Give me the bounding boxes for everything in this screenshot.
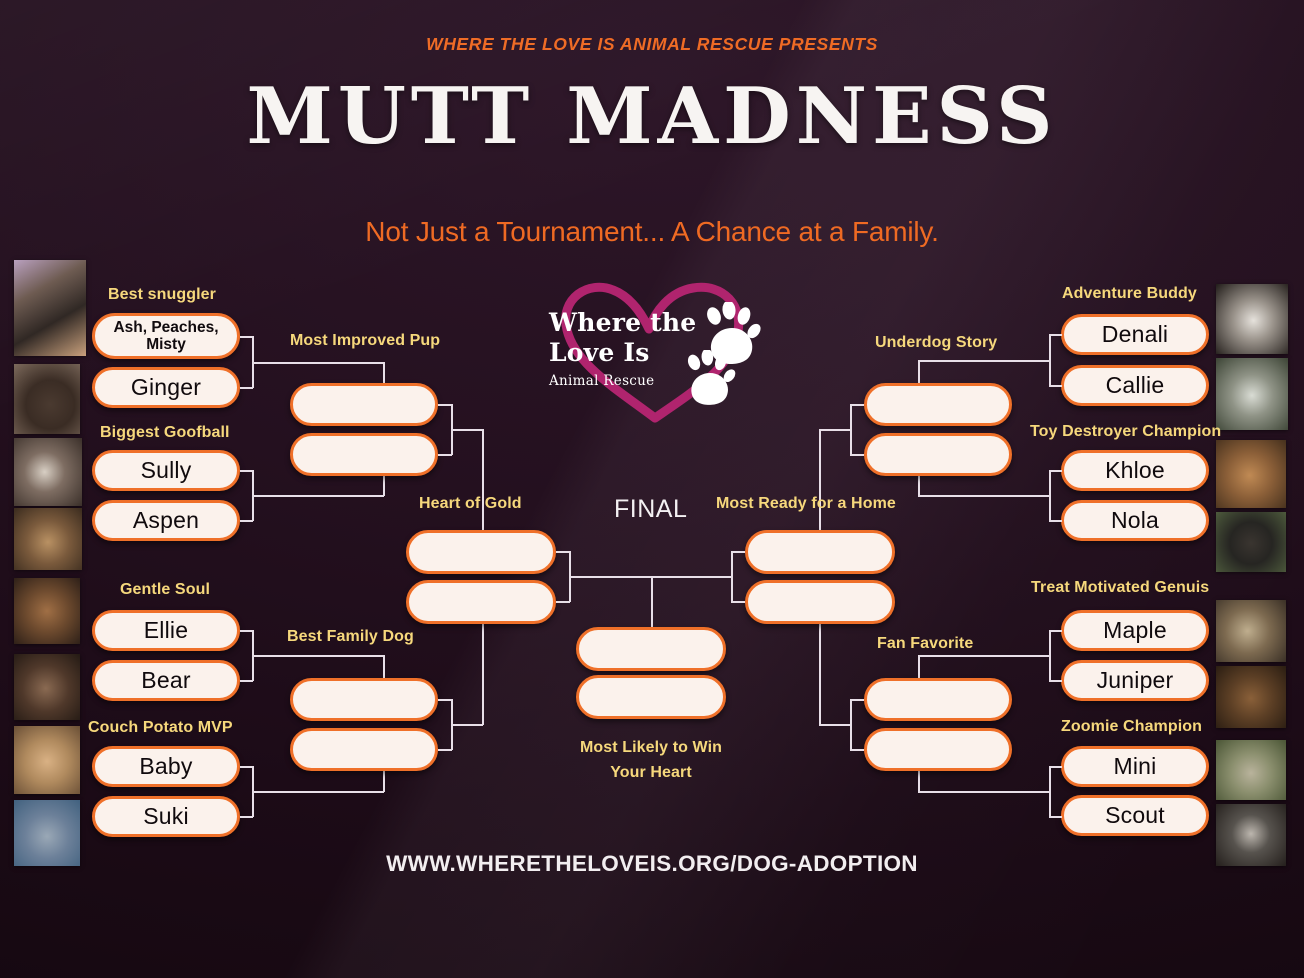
- dog-photo-right-6: [1216, 666, 1286, 728]
- right-r1-slot-4[interactable]: Nola: [1061, 500, 1209, 541]
- category-label-adventure-buddy: Adventure Buddy: [1062, 285, 1197, 303]
- connector-left-d-in-bot: [240, 816, 253, 818]
- connector-left-b-in-bot: [240, 520, 253, 522]
- connector-right-r3-top: [731, 551, 745, 553]
- right-r1-slot-6[interactable]: Juniper: [1061, 660, 1209, 701]
- right-r3-slot-1[interactable]: [745, 530, 895, 574]
- dog-photo-right-1: [1216, 284, 1288, 354]
- connector-right-b-out: [918, 495, 1050, 497]
- connector-left-r2b-out: [451, 724, 483, 726]
- connector-left-b-in-top: [240, 470, 253, 472]
- category-label-best-family-dog: Best Family Dog: [287, 628, 414, 646]
- right-r1-slot-8[interactable]: Scout: [1061, 795, 1209, 836]
- dog-photo-right-2: [1216, 358, 1288, 430]
- category-label-couch-potato-mvp: Couch Potato MVP: [88, 719, 233, 737]
- connector-right-r3-bot: [731, 601, 745, 603]
- connector-left-r2b-top: [438, 699, 452, 701]
- right-r1-slot-1[interactable]: Denali: [1061, 314, 1209, 355]
- connector-right-c-in-top: [1049, 630, 1062, 632]
- category-label-gentle-soul: Gentle Soul: [120, 581, 210, 599]
- category-label-biggest-goofball: Biggest Goofball: [100, 424, 230, 442]
- connector-left-c-out: [252, 655, 384, 657]
- connector-left-c-in-bot: [240, 680, 253, 682]
- logo-line-1: Where the: [549, 308, 709, 338]
- connector-right-d-out: [918, 791, 1050, 793]
- connector-right-b-in-bot: [1049, 520, 1062, 522]
- connector-right-r2b-bot: [850, 749, 864, 751]
- connector-right-b-in-top: [1049, 470, 1062, 472]
- final-slot-1[interactable]: [576, 627, 726, 671]
- connector-left-r2a-out: [451, 429, 483, 431]
- dog-photo-right-3: [1216, 440, 1286, 508]
- connector-final-stem: [651, 576, 653, 629]
- final-caption-line-1: Most Likely to Win: [561, 738, 741, 758]
- category-label-best-snuggler: Best snuggler: [108, 286, 216, 304]
- category-label-heart-of-gold: Heart of Gold: [419, 495, 522, 513]
- connector-right-a-in-bot: [1049, 385, 1062, 387]
- left-r1-slot-1[interactable]: Ash, Peaches, Misty: [92, 313, 240, 359]
- final-slot-2[interactable]: [576, 675, 726, 719]
- connector-left-a-out: [252, 362, 384, 364]
- final-caption-line-2: Your Heart: [561, 763, 741, 783]
- connector-left-c-in-top: [240, 630, 253, 632]
- connector-left-d-out: [252, 791, 384, 793]
- right-r2-slot-4[interactable]: [864, 728, 1012, 771]
- right-r1-slot-3[interactable]: Khloe: [1061, 450, 1209, 491]
- connector-left-d-in-top: [240, 766, 253, 768]
- left-r2-slot-2[interactable]: [290, 433, 438, 476]
- dog-photo-left-7: [14, 726, 80, 794]
- connector-left-r2a-bot: [438, 454, 452, 456]
- dog-photo-right-5: [1216, 600, 1286, 662]
- connector-right-c-in-bot: [1049, 680, 1062, 682]
- left-r3-slot-2[interactable]: [406, 580, 556, 624]
- dog-photo-left-4: [14, 508, 82, 570]
- right-r2-slot-2[interactable]: [864, 433, 1012, 476]
- left-r1-slot-2[interactable]: Ginger: [92, 367, 240, 408]
- category-label-most-ready-for-a-home: Most Ready for a Home: [716, 495, 896, 513]
- connector-left-a-in-top: [240, 336, 253, 338]
- left-r1-slot-6[interactable]: Bear: [92, 660, 240, 701]
- website-url: WWW.WHERETHELOVEIS.ORG/DOG-ADOPTION: [0, 851, 1304, 877]
- connector-left-r2a-drop: [482, 429, 484, 541]
- connector-left-r3-top: [556, 551, 570, 553]
- connector-left-b-out: [252, 495, 384, 497]
- dog-photo-right-7: [1216, 740, 1286, 800]
- connector-right-r2a-drop: [819, 429, 821, 541]
- connector-right-r2a-top: [850, 404, 864, 406]
- connector-right-a-in-top: [1049, 334, 1062, 336]
- final-label: FINAL: [614, 495, 687, 524]
- left-r2-slot-1[interactable]: [290, 383, 438, 426]
- connector-right-c-out: [918, 655, 1050, 657]
- connector-left-r3-to-final: [569, 576, 652, 578]
- connector-right-d-in-bot: [1049, 816, 1062, 818]
- connector-right-r3-to-final: [651, 576, 733, 578]
- category-label-fan-favorite: Fan Favorite: [877, 635, 973, 653]
- dog-photo-left-5: [14, 578, 80, 644]
- left-r1-slot-8[interactable]: Suki: [92, 796, 240, 837]
- connector-right-a-out: [918, 360, 1050, 362]
- connector-right-r2b-out: [819, 724, 851, 726]
- organization-logo: Where the Love Is Animal Rescue: [537, 272, 767, 427]
- right-r1-slot-7[interactable]: Mini: [1061, 746, 1209, 787]
- connector-right-r2b-top: [850, 699, 864, 701]
- left-r1-slot-5[interactable]: Ellie: [92, 610, 240, 651]
- poster-canvas: WHERE THE LOVE IS ANIMAL RESCUE PRESENTS…: [0, 0, 1304, 978]
- right-r2-slot-3[interactable]: [864, 678, 1012, 721]
- category-label-treat-motivated-genius: Treat Motivated Genuis: [1031, 579, 1209, 597]
- left-r2-slot-4[interactable]: [290, 728, 438, 771]
- subtitle: Not Just a Tournament... A Chance at a F…: [0, 216, 1304, 248]
- left-r2-slot-3[interactable]: [290, 678, 438, 721]
- connector-left-r3-bot: [556, 601, 570, 603]
- page-title: MUTT MADNESS: [0, 78, 1304, 156]
- connector-left-r2a-top: [438, 404, 452, 406]
- connector-right-d-in-top: [1049, 766, 1062, 768]
- connector-left-r2b-bot: [438, 749, 452, 751]
- dog-photo-left-6: [14, 654, 80, 720]
- dog-photo-left-2: [14, 364, 80, 434]
- category-label-most-improved-pup: Most Improved Pup: [290, 332, 440, 350]
- left-r1-slot-3[interactable]: Sully: [92, 450, 240, 491]
- left-r1-slot-4[interactable]: Aspen: [92, 500, 240, 541]
- dog-photo-left-1: [14, 260, 86, 356]
- category-label-zoomie-champion: Zoomie Champion: [1061, 718, 1202, 736]
- left-r1-slot-7[interactable]: Baby: [92, 746, 240, 787]
- category-label-underdog-story: Underdog Story: [875, 334, 997, 352]
- dog-photo-right-4: [1216, 512, 1286, 572]
- category-label-toy-destroyer-champion: Toy Destroyer Champion: [1030, 423, 1221, 441]
- presents-line: WHERE THE LOVE IS ANIMAL RESCUE PRESENTS: [0, 34, 1304, 55]
- right-r3-slot-2[interactable]: [745, 580, 895, 624]
- paw-print-icon-lower: [682, 350, 738, 412]
- right-r2-slot-1[interactable]: [864, 383, 1012, 426]
- dog-photo-left-3: [14, 438, 82, 506]
- right-r1-slot-2[interactable]: Callie: [1061, 365, 1209, 406]
- connector-right-r2a-bot: [850, 454, 864, 456]
- right-r1-slot-5[interactable]: Maple: [1061, 610, 1209, 651]
- connector-left-a-in-bot: [240, 387, 253, 389]
- left-r3-slot-1[interactable]: [406, 530, 556, 574]
- connector-right-r2a-out: [819, 429, 851, 431]
